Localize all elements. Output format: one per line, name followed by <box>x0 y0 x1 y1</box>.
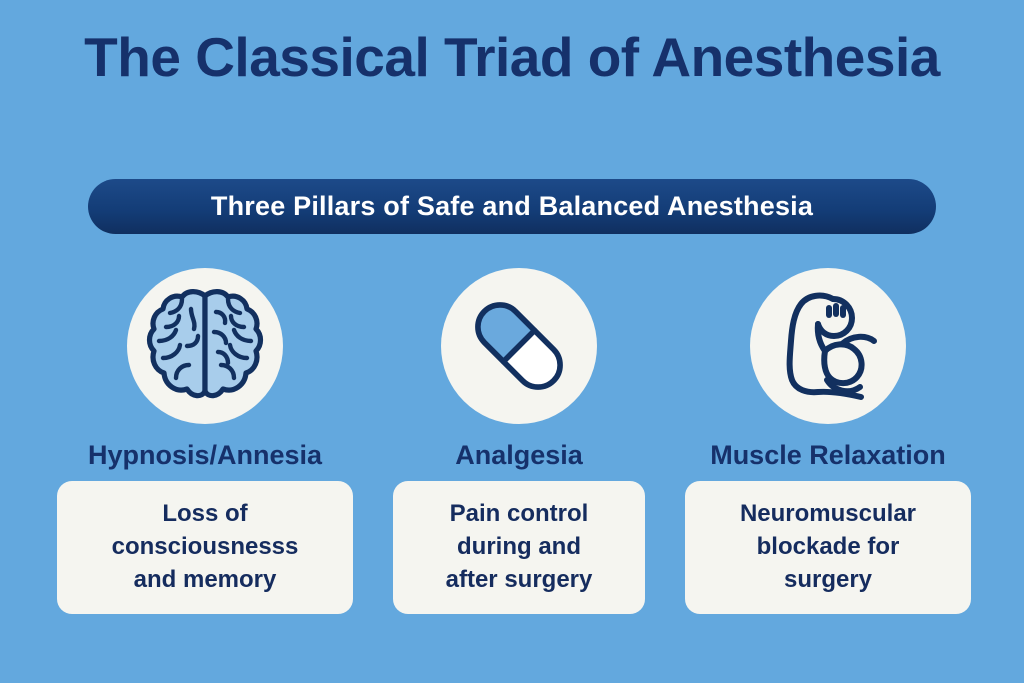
pillar-description-card: Loss of consciousnesss and memory <box>57 481 353 614</box>
flexed-bicep-icon <box>770 287 886 405</box>
pillar-analgesia: Analgesia Pain control during and after … <box>393 268 645 614</box>
pillar-heading: Hypnosis/Annesia <box>57 439 353 471</box>
page-title: The Classical Triad of Anesthesia <box>0 26 1024 88</box>
pillar-description-card: Neuromuscular blockade for surgery <box>685 481 971 614</box>
pillar-heading: Analgesia <box>393 439 645 471</box>
pillar-muscle-relaxation: Muscle Relaxation Neuromuscular blockade… <box>685 268 971 614</box>
title-block: The Classical Triad of Anesthesia <box>0 26 1024 88</box>
capsule-pill-icon <box>460 287 578 405</box>
pillars-row: Hypnosis/Annesia Loss of consciousnesss … <box>0 268 1024 668</box>
pillar-description-text: Loss of consciousnesss and memory <box>112 497 299 596</box>
flexed-bicep-icon-circle <box>750 268 906 424</box>
capsule-pill-icon-circle <box>441 268 597 424</box>
brain-icon-circle <box>127 268 283 424</box>
pillar-description-text: Neuromuscular blockade for surgery <box>740 497 916 596</box>
pillar-heading: Muscle Relaxation <box>685 439 971 471</box>
subtitle-banner: Three Pillars of Safe and Balanced Anest… <box>88 179 936 234</box>
infographic-poster: The Classical Triad of Anesthesia Three … <box>0 0 1024 683</box>
pillar-description-card: Pain control during and after surgery <box>393 481 645 614</box>
pillar-hypnosis-amnesia: Hypnosis/Annesia Loss of consciousnesss … <box>57 268 353 614</box>
brain-icon <box>146 286 264 406</box>
pillar-description-text: Pain control during and after surgery <box>446 497 593 596</box>
subtitle-banner-text: Three Pillars of Safe and Balanced Anest… <box>211 191 813 222</box>
